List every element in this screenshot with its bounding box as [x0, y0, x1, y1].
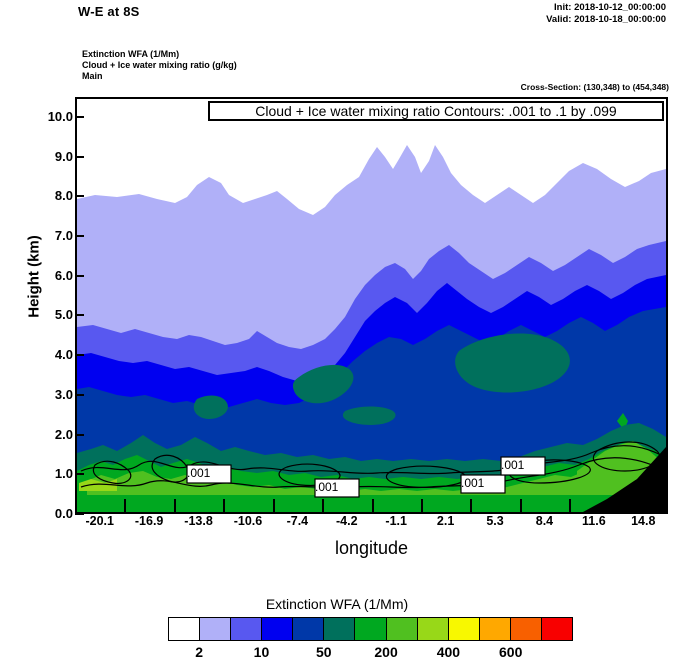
extinction-shaded-field — [77, 99, 666, 512]
y-tick-mark — [75, 354, 84, 356]
y-tick-label: 6.0 — [25, 268, 73, 283]
y-tick-mark — [75, 314, 84, 316]
colorbar-cell — [293, 618, 324, 640]
annotation-extinction: Extinction WFA (1/Mm) — [82, 49, 237, 60]
colorbar-tick-label: 2 — [169, 644, 229, 660]
colorbar — [168, 617, 573, 641]
y-tick-label: 9.0 — [25, 149, 73, 164]
y-tick-mark — [75, 156, 84, 158]
x-tick-mark — [372, 499, 374, 512]
contour-label-2: .001 — [315, 480, 338, 494]
y-tick-mark — [75, 195, 84, 197]
x-tick-label: 8.4 — [516, 514, 572, 528]
x-tick-label: -13.8 — [171, 514, 227, 528]
y-tick-mark — [75, 116, 84, 118]
x-tick-mark — [124, 499, 126, 512]
colorbar-cell — [542, 618, 572, 640]
x-tick-mark — [421, 499, 423, 512]
contour-banner: Cloud + Ice water mixing ratio Contours:… — [208, 101, 664, 121]
x-tick-mark — [470, 499, 472, 512]
y-tick-label: 7.0 — [25, 228, 73, 243]
x-tick-mark — [322, 499, 324, 512]
x-tick-label: -10.6 — [220, 514, 276, 528]
x-tick-label: -16.9 — [121, 514, 177, 528]
x-tick-label: -20.1 — [72, 514, 128, 528]
y-tick-label: 8.0 — [25, 188, 73, 203]
cross-section-endpoints: Cross-Section: (130,348) to (454,348) — [521, 82, 669, 92]
annotation-mixing-ratio: Cloud + Ice water mixing ratio (g/kg) — [82, 60, 237, 71]
x-tick-mark — [619, 499, 621, 512]
x-tick-label: 5.3 — [467, 514, 523, 528]
colorbar-cell — [511, 618, 542, 640]
y-tick-label: 4.0 — [25, 347, 73, 362]
y-tick-mark — [75, 235, 84, 237]
colorbar-cell — [449, 618, 480, 640]
x-tick-label: -1.1 — [368, 514, 424, 528]
y-tick-label: 2.0 — [25, 427, 73, 442]
x-tick-mark — [569, 499, 571, 512]
contour-label-3: .001 — [461, 476, 484, 490]
x-tick-mark — [273, 499, 275, 512]
colorbar-cell — [200, 618, 231, 640]
y-tick-label: 3.0 — [25, 387, 73, 402]
colorbar-title: Extinction WFA (1/Mm) — [0, 596, 674, 612]
x-tick-mark — [174, 499, 176, 512]
x-tick-label: -4.2 — [319, 514, 375, 528]
init-time-label: Init: 2018-10-12_00:00:00 — [546, 2, 666, 14]
colorbar-cell — [231, 618, 262, 640]
colorbar-tick-label: 600 — [481, 644, 541, 660]
contour-label-1: .001 — [187, 466, 210, 480]
x-tick-mark — [520, 499, 522, 512]
colorbar-cell — [262, 618, 293, 640]
cross-section-plot — [75, 97, 668, 514]
colorbar-cell — [355, 618, 386, 640]
model-run-metadata: Init: 2018-10-12_00:00:00 Valid: 2018-10… — [546, 2, 666, 26]
x-axis-title: longitude — [75, 538, 668, 559]
colorbar-cell — [169, 618, 200, 640]
annotation-domain: Main — [82, 71, 237, 82]
field-annotation-block: Extinction WFA (1/Mm) Cloud + Ice water … — [82, 49, 237, 82]
colorbar-tick-label: 400 — [418, 644, 478, 660]
valid-time-label: Valid: 2018-10-18_00:00:00 — [546, 14, 666, 26]
colorbar-cell — [418, 618, 449, 640]
y-tick-mark — [75, 434, 84, 436]
x-tick-label: 14.8 — [615, 514, 671, 528]
y-tick-mark — [75, 473, 84, 475]
y-tick-mark — [75, 275, 84, 277]
y-tick-label: 10.0 — [25, 109, 73, 124]
contour-label-4: .001 — [501, 458, 524, 472]
colorbar-cell — [387, 618, 418, 640]
colorbar-cell — [480, 618, 511, 640]
x-tick-label: 2.1 — [418, 514, 474, 528]
colorbar-tick-label: 50 — [294, 644, 354, 660]
y-tick-label: 0.0 — [25, 506, 73, 521]
y-tick-label: 5.0 — [25, 307, 73, 322]
y-tick-mark — [75, 394, 84, 396]
colorbar-cell — [324, 618, 355, 640]
x-tick-label: -7.4 — [269, 514, 325, 528]
x-tick-label: 11.6 — [566, 514, 622, 528]
colorbar-tick-label: 10 — [231, 644, 291, 660]
colorbar-tick-label: 200 — [356, 644, 416, 660]
x-tick-mark — [223, 499, 225, 512]
y-tick-label: 1.0 — [25, 466, 73, 481]
page-title: W-E at 8S — [78, 4, 140, 19]
